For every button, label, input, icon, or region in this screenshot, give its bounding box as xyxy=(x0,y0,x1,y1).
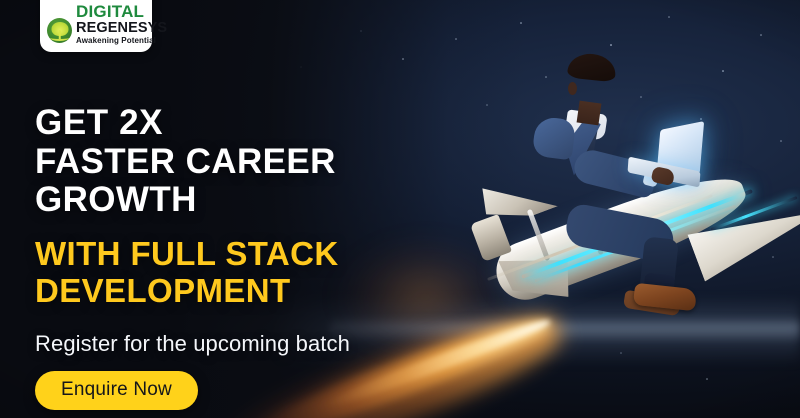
brand-logo-text: DIGITAL REGENESYS Awakening Potential xyxy=(76,3,167,46)
promo-copy: GET 2X FASTER CAREER GROWTH WITH FULL ST… xyxy=(35,104,505,410)
brand-logo[interactable]: DIGITAL REGENESYS Awakening Potential xyxy=(40,0,152,52)
headline-line-3: WITH FULL STACK xyxy=(35,236,505,272)
promo-banner: DIGITAL REGENESYS Awakening Potential GE… xyxy=(0,0,800,418)
enquire-now-button[interactable]: Enquire Now xyxy=(35,371,198,410)
headline-line-2: FASTER CAREER GROWTH xyxy=(35,143,505,218)
brand-name-line2: REGENESYS xyxy=(76,21,167,36)
headline-line-4: DEVELOPMENT xyxy=(35,273,505,309)
brand-tagline: Awakening Potential xyxy=(76,37,167,45)
headline-line-1: GET 2X xyxy=(35,104,505,141)
brand-name-line1: DIGITAL xyxy=(76,3,167,20)
subheading: Register for the upcoming batch xyxy=(35,331,505,357)
tree-emblem-icon xyxy=(47,18,72,43)
